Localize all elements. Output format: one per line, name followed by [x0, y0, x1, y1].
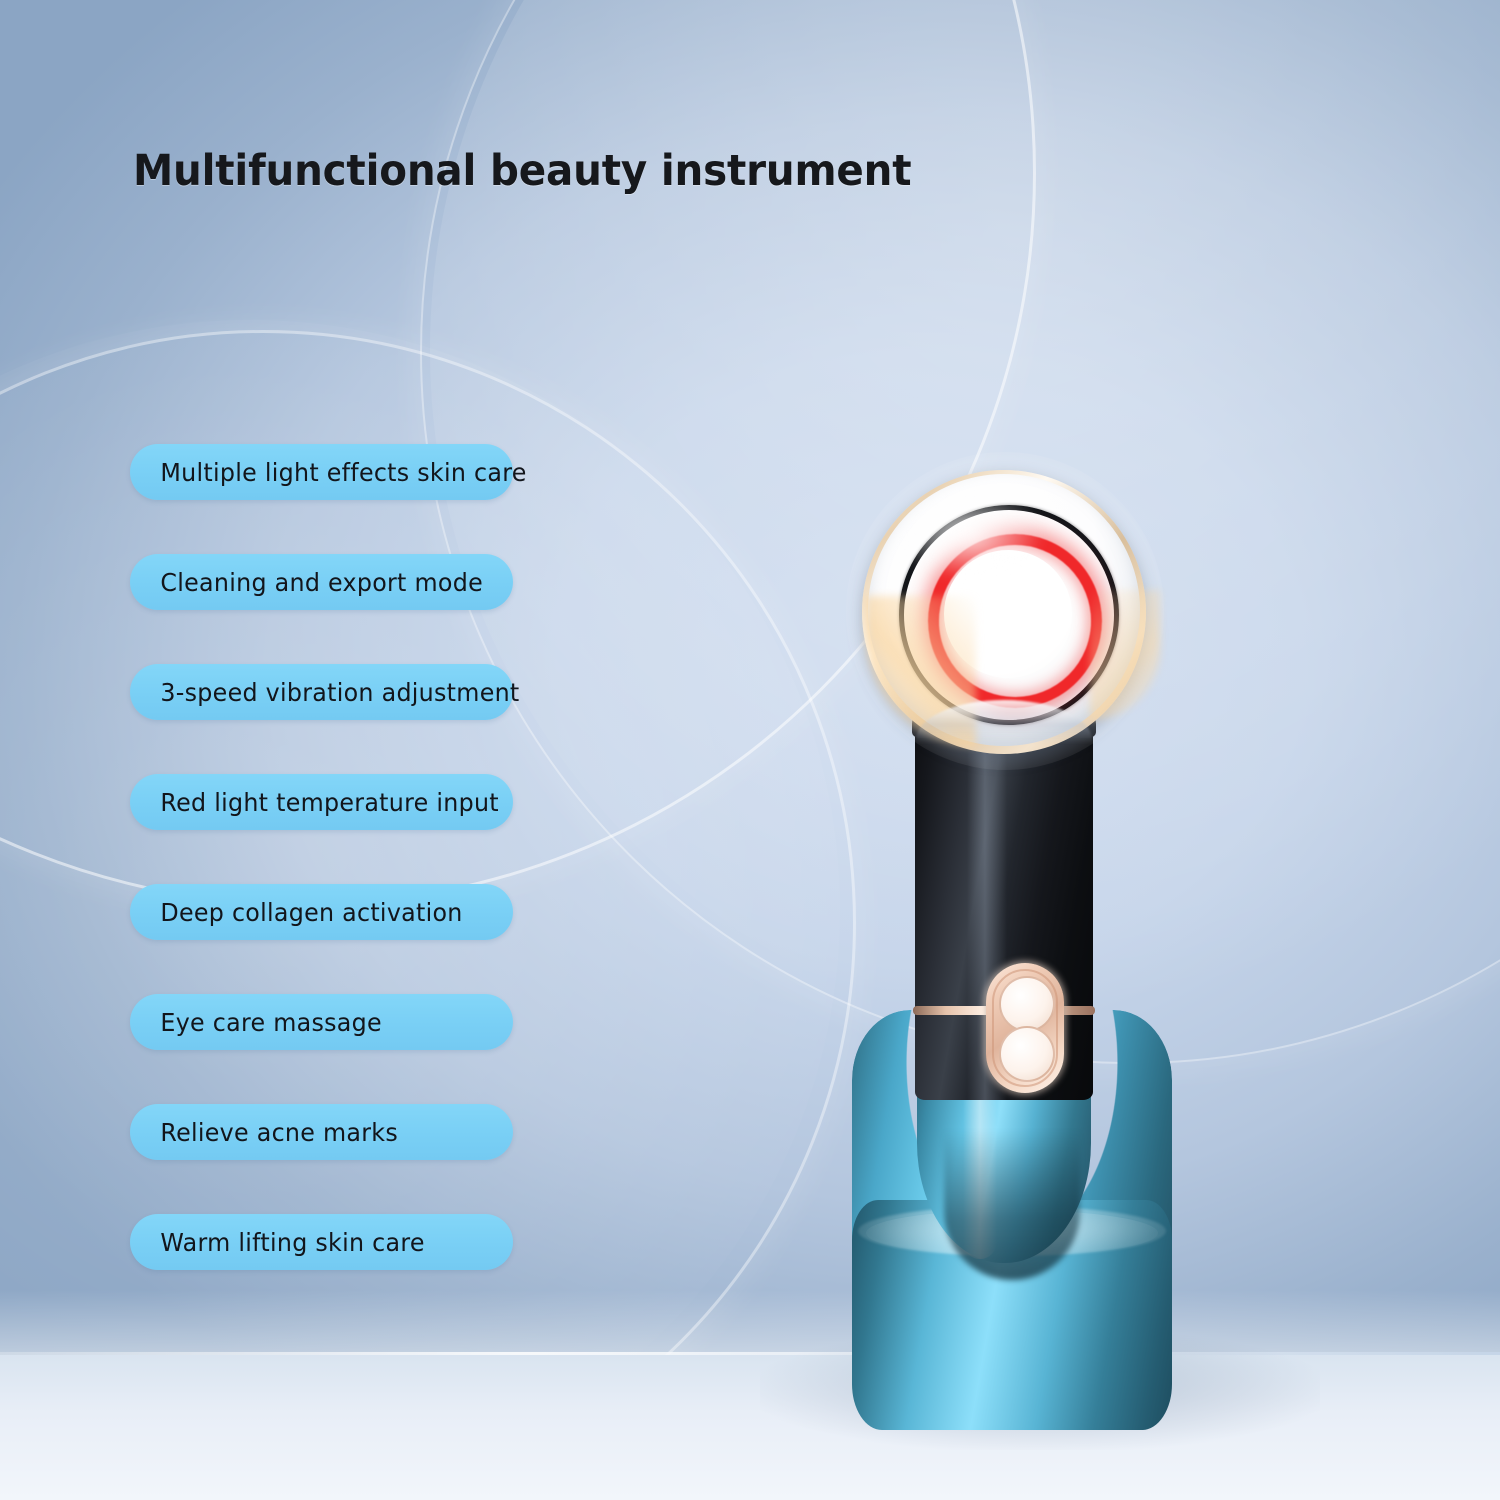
- charging-base: [852, 1010, 1172, 1430]
- product-marketing-banner: Multifunctional beauty instrument Multip…: [0, 0, 1500, 1500]
- feature-pill-warm-lifting-skin-care: Warm lifting skin care: [130, 1214, 513, 1270]
- head-outer-glow: [846, 452, 1164, 770]
- feature-pill-multiple-light-effects-skin-care: Multiple light effects skin care: [130, 444, 513, 500]
- red-light-ring-icon: [928, 534, 1102, 708]
- base-arms: [852, 1010, 1172, 1340]
- base-rim-highlight: [858, 1206, 1166, 1256]
- feature-pill-deep-collagen-activation: Deep collagen activation: [130, 884, 513, 940]
- feature-list: Multiple light effects skin care Cleanin…: [130, 444, 513, 1324]
- head-neck-shadow: [916, 700, 1092, 744]
- feature-pill-relieve-acne-marks: Relieve acne marks: [130, 1104, 513, 1160]
- head-center-plate: [944, 550, 1072, 678]
- floor-horizon-line: [0, 1352, 1500, 1355]
- head-white-ring: [868, 474, 1140, 746]
- head-warm-edge-right: [1090, 590, 1160, 720]
- feature-pill-label: Cleaning and export mode: [130, 568, 483, 597]
- handle-blue-section: [917, 1013, 1091, 1263]
- head-warm-edge-left: [866, 596, 976, 746]
- feature-pill-label: Multiple light effects skin care: [130, 458, 527, 487]
- rose-gold-dual-button[interactable]: [986, 963, 1064, 1093]
- head-specular-highlight: [895, 490, 1045, 580]
- handle-gold-band: [913, 1006, 1095, 1015]
- floor-surface: [0, 1355, 1500, 1500]
- feature-pill-3-speed-vibration-adjustment: 3-speed vibration adjustment: [130, 664, 513, 720]
- feature-pill-label: Warm lifting skin care: [130, 1228, 425, 1257]
- mode-button-icon[interactable]: [999, 1026, 1055, 1082]
- cradle-inner-shadow: [944, 1130, 1080, 1280]
- feature-pill-eye-care-massage: Eye care massage: [130, 994, 513, 1050]
- feature-pill-label: 3-speed vibration adjustment: [130, 678, 520, 707]
- head-inner-white-ring: [908, 514, 1100, 706]
- handle-top-bevel: [912, 690, 1096, 738]
- feature-pill-label: Eye care massage: [130, 1008, 382, 1037]
- head-dark-ring: [899, 505, 1119, 725]
- head-gold-rim: [862, 470, 1146, 754]
- feature-pill-label: Red light temperature input: [130, 788, 499, 817]
- base-body: [852, 1200, 1172, 1430]
- page-title: Multifunctional beauty instrument: [133, 146, 911, 196]
- product-drop-shadow: [760, 1330, 1320, 1450]
- feature-pill-label: Deep collagen activation: [130, 898, 463, 927]
- handle-body: [915, 700, 1093, 1100]
- feature-pill-cleaning-and-export-mode: Cleaning and export mode: [130, 554, 513, 610]
- feature-pill-red-light-temperature-input: Red light temperature input: [130, 774, 513, 830]
- feature-pill-label: Relieve acne marks: [130, 1118, 398, 1147]
- power-button-icon[interactable]: [999, 976, 1055, 1032]
